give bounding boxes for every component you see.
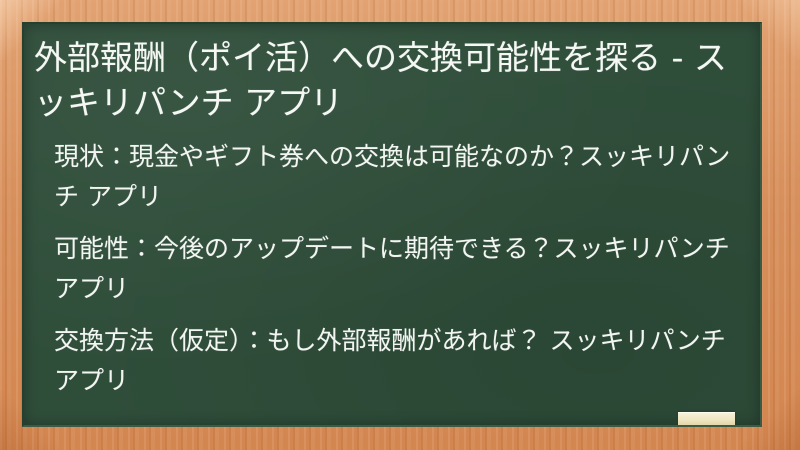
list-item: 可能性：今後のアップデートに期待できる？スッキリパンチ アプリ	[54, 229, 736, 309]
chalk-eraser-icon	[678, 412, 735, 425]
topic-list: 現状：現金やギフト券への交換は可能なのか？スッキリパンチ アプリ 可能性：今後の…	[32, 137, 750, 401]
list-item: 現状：現金やギフト券への交換は可能なのか？スッキリパンチ アプリ	[54, 137, 736, 217]
chalkboard-wooden-frame: 外部報酬（ポイ活）への交換可能性を探る - スッキリパンチ アプリ 現状：現金や…	[0, 0, 800, 450]
page-title: 外部報酬（ポイ活）への交換可能性を探る - スッキリパンチ アプリ	[32, 35, 750, 125]
chalkboard-content: 外部報酬（ポイ活）への交換可能性を探る - スッキリパンチ アプリ 現状：現金や…	[24, 24, 760, 425]
list-item: 交換方法（仮定）：もし外部報酬があれば？ スッキリパンチ アプリ	[54, 321, 736, 401]
chalkboard-surface: 外部報酬（ポイ活）への交換可能性を探る - スッキリパンチ アプリ 現状：現金や…	[22, 22, 762, 427]
